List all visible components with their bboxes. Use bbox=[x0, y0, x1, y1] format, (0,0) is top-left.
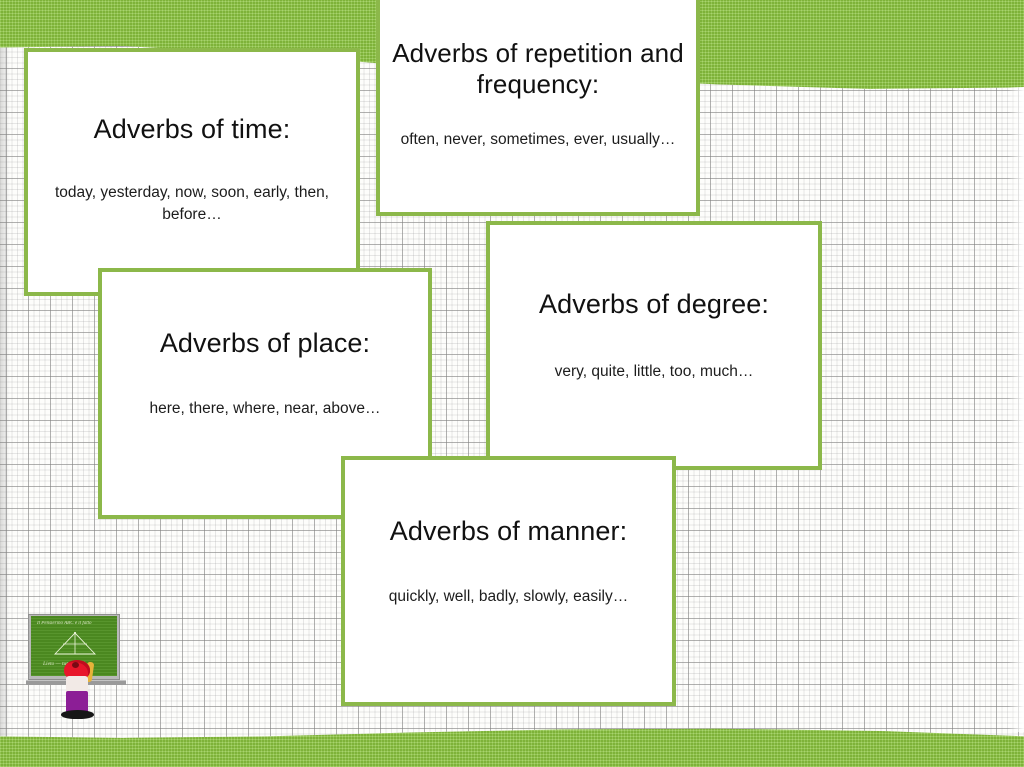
adverbs-of-time-examples: today, yesterday, now, soon, early, then… bbox=[28, 182, 356, 226]
adverbs-of-repetition-title: Adverbs of repetition and frequency: bbox=[380, 38, 696, 99]
adverbs-of-degree-card[interactable]: Adverbs of degree: very, quite, little, … bbox=[486, 221, 822, 470]
student-shoes bbox=[61, 710, 94, 719]
student-shirt bbox=[66, 676, 88, 692]
chalkboard-text-top: Il Pensierino ABC è il fatto bbox=[37, 621, 92, 626]
chalkboard-geometry-diagram bbox=[53, 630, 97, 656]
adverbs-of-manner-title: Adverbs of manner: bbox=[345, 516, 672, 548]
adverbs-of-time-card[interactable]: Adverbs of time: today, yesterday, now, … bbox=[24, 48, 360, 296]
adverbs-of-time-title: Adverbs of time: bbox=[28, 114, 356, 146]
adverbs-of-degree-examples: very, quite, little, too, much… bbox=[490, 361, 818, 383]
adverbs-of-place-examples: here, there, where, near, above… bbox=[102, 398, 428, 420]
adverbs-of-repetition-examples: often, never, sometimes, ever, usually… bbox=[380, 129, 696, 151]
adverbs-of-manner-examples: quickly, well, badly, slowly, easily… bbox=[345, 586, 672, 608]
adverbs-of-repetition-card[interactable]: Adverbs of repetition and frequency: oft… bbox=[376, 0, 700, 216]
adverbs-of-manner-card[interactable]: Adverbs of manner: quickly, well, badly,… bbox=[341, 456, 676, 706]
student-hat-center bbox=[72, 662, 79, 668]
adverbs-of-degree-title: Adverbs of degree: bbox=[490, 289, 818, 321]
adverbs-of-place-title: Adverbs of place: bbox=[102, 328, 428, 360]
slide-canvas: Adverbs of time: today, yesterday, now, … bbox=[0, 0, 1024, 767]
chalkboard-with-student-illustration: Il Pensierino ABC è il fatto Lieto — tut… bbox=[26, 612, 126, 722]
